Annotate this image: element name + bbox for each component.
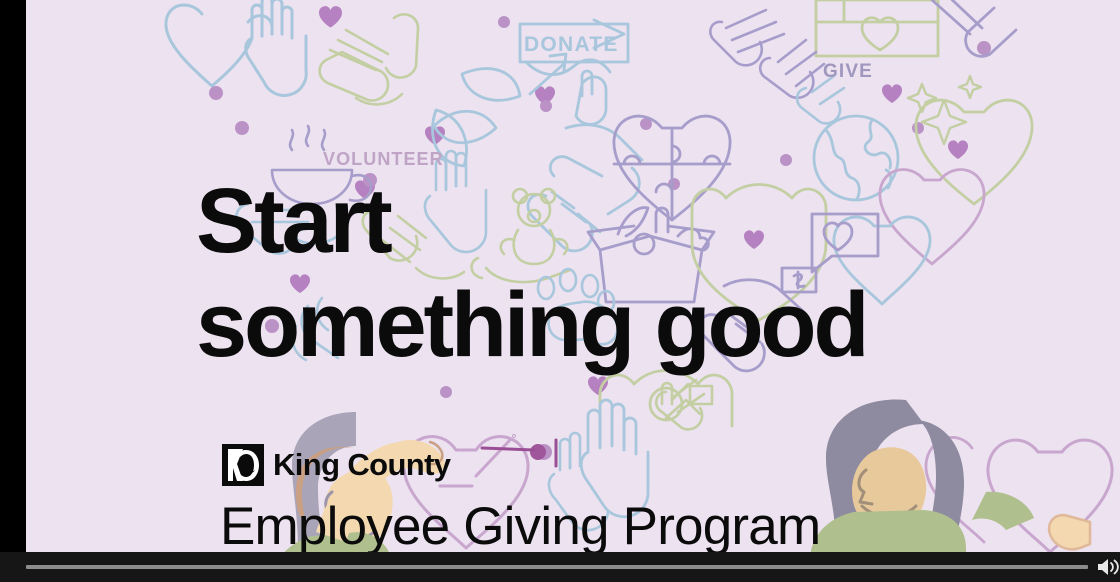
video-control-bar[interactable] xyxy=(0,552,1120,582)
seek-bar[interactable] xyxy=(26,563,1088,571)
volume-button[interactable] xyxy=(1096,557,1120,577)
king-county-logo: King County xyxy=(222,444,450,486)
art-label-donate: DONATE xyxy=(524,33,619,57)
slide-artboard: DONATE GIVE VOLUNTEER Start something go… xyxy=(26,0,1120,552)
art-label-give: GIVE xyxy=(823,61,873,83)
seek-track[interactable] xyxy=(26,565,1088,569)
video-player: DONATE GIVE VOLUNTEER Start something go… xyxy=(0,0,1120,582)
letterbox-left-gutter xyxy=(0,0,26,552)
art-label-volunteer: VOLUNTEER xyxy=(323,149,444,170)
king-county-mlk-profile-icon xyxy=(222,444,264,486)
slide-headline-line-1: Start xyxy=(196,178,390,264)
slide-headline-line-2: something good xyxy=(196,282,866,368)
king-county-wordmark: King County xyxy=(273,447,450,483)
video-stage[interactable]: DONATE GIVE VOLUNTEER Start something go… xyxy=(26,0,1120,552)
program-title: Employee Giving Program xyxy=(220,496,820,552)
speaker-icon xyxy=(1096,557,1120,577)
